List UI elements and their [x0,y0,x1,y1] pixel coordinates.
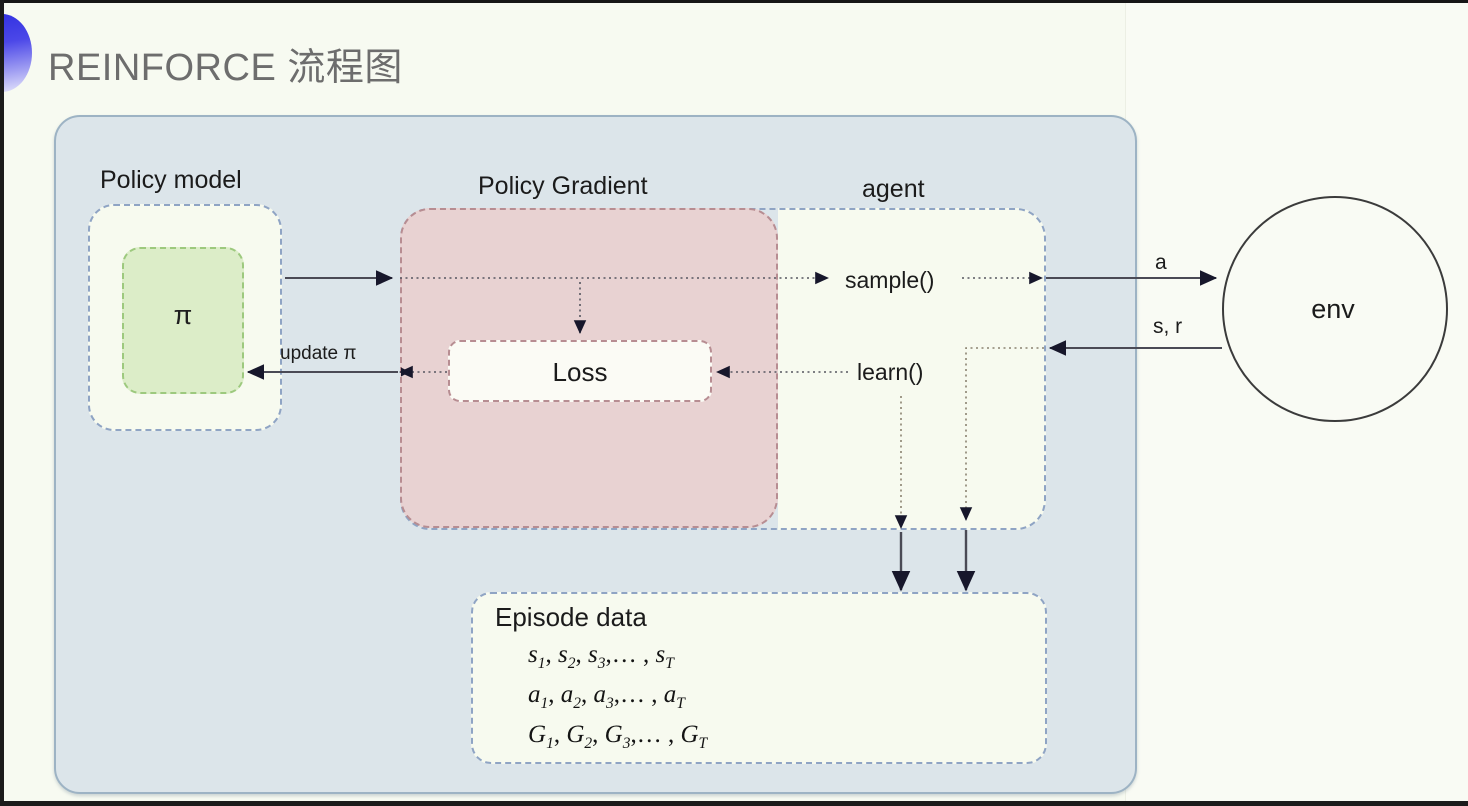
loss-node-label: Loss [448,357,712,388]
policy-model-caption: Policy model [100,166,242,195]
episode-data-title: Episode data [495,602,647,633]
agent-caption: agent [862,175,925,204]
sample-method-label[interactable]: sample() [845,267,934,294]
state-reward-edge-label: s, r [1153,315,1182,339]
frame-left-edge [0,0,4,806]
action-edge-label: a [1155,251,1167,275]
policy-gradient-caption: Policy Gradient [478,172,648,201]
episode-data-states-row: s1, s2, s3,… , sT [528,641,674,673]
title-decoration-blob [0,14,32,92]
env-node-label: env [1222,294,1444,325]
diagram-canvas: REINFORCE 流程图 Policy model π Policy Grad… [0,0,1468,806]
update-pi-edge-label: update π [280,343,357,365]
frame-top-edge [0,0,1468,3]
learn-method-label[interactable]: learn() [857,359,923,386]
episode-data-actions-row: a1, a2, a3,… , aT [528,681,685,713]
page-title: REINFORCE 流程图 [48,36,403,91]
episode-data-returns-row: G1, G2, G3,… , GT [528,721,707,753]
pi-node-label: π [122,300,244,331]
frame-bottom-edge [0,801,1468,806]
